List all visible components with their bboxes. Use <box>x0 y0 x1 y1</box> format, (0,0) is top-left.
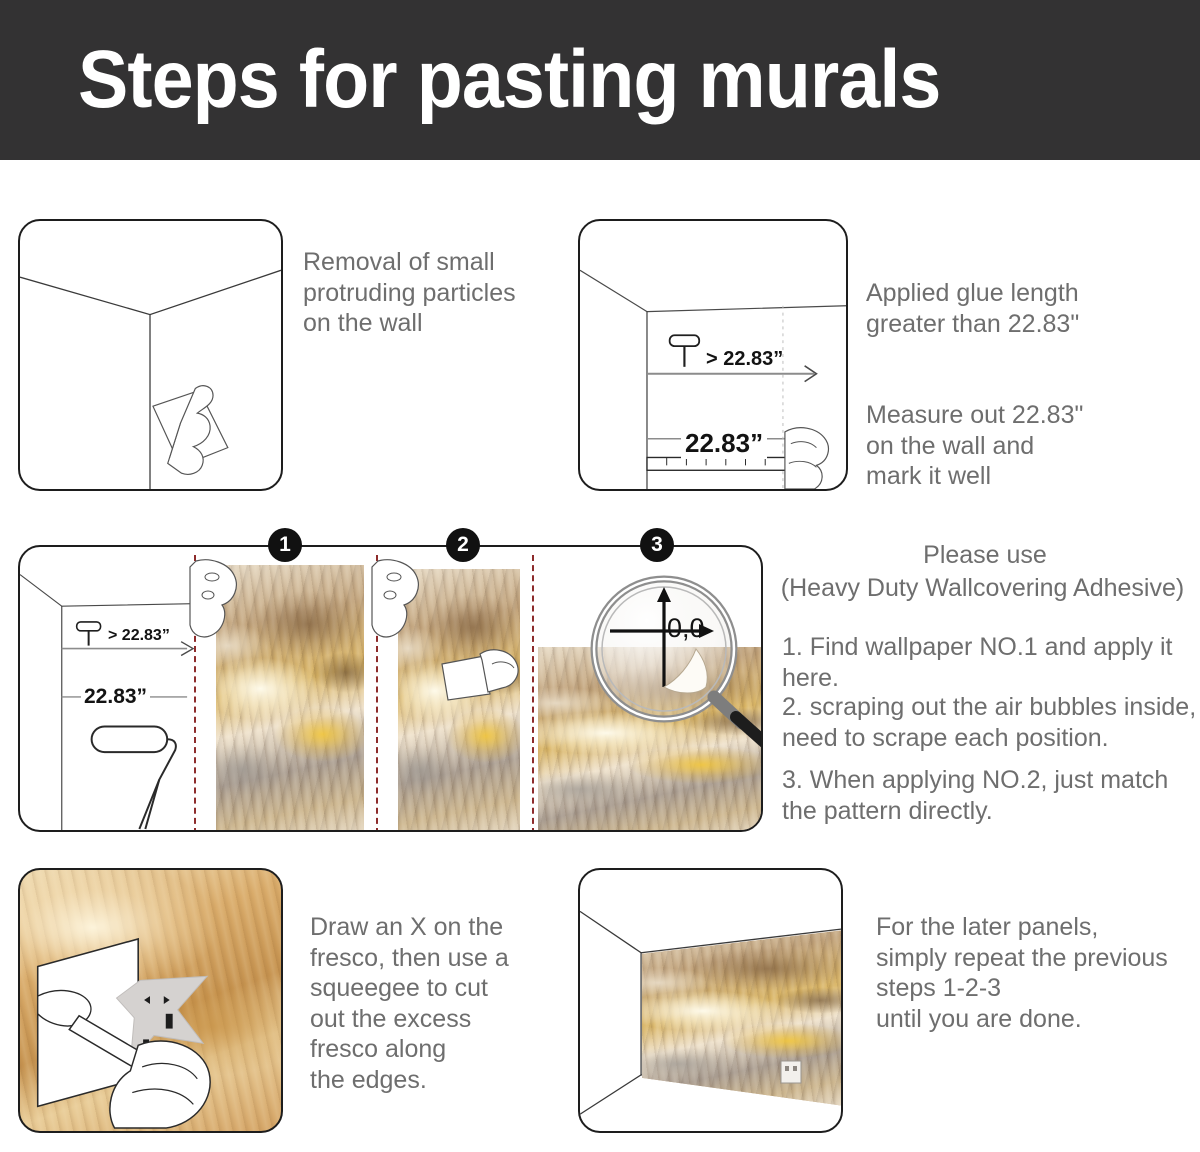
page-title: Steps for pasting murals <box>78 39 940 121</box>
instructions-heading-line2: (Heavy Duty Wallcovering Adhesive) <box>770 573 1195 604</box>
glue-length-label-wide: > 22.83” <box>108 627 170 645</box>
origin-label: 0,0 <box>667 613 705 644</box>
squeegee-hand-icon <box>440 642 532 712</box>
finished-mural-wall <box>642 930 843 1106</box>
guide-line-3 <box>532 555 534 832</box>
wall-outlet-icon <box>780 1060 802 1084</box>
panel-clean-wall <box>18 219 283 491</box>
step-badge-1: 1 <box>268 528 302 562</box>
panel-hang-panels: > 22.83” 22.83” <box>18 545 763 832</box>
panel-apply-glue: > 22.83” 22.83” <box>578 219 848 491</box>
page-header: Steps for pasting murals <box>0 0 1200 160</box>
caption-glue-length: Applied glue length greater than 22.83" <box>866 278 1166 339</box>
instruction-item-1: 1. Find wallpaper NO.1 and apply it here… <box>782 632 1197 693</box>
instructions-heading-line1: Please use <box>790 540 1180 571</box>
caption-cut-outlet: Draw an X on the fresco, then use a sque… <box>310 912 585 1095</box>
hand-holding-corner-icon-2 <box>370 557 430 647</box>
caption-clean-wall: Removal of small protruding particles on… <box>303 247 563 339</box>
measure-length-label-wide: 22.83” <box>81 685 150 709</box>
step-badge-2: 2 <box>446 528 480 562</box>
caption-measure-mark: Measure out 22.83" on the wall and mark … <box>866 400 1176 492</box>
measure-length-label: 22.83” <box>681 428 767 459</box>
magnifier-icon <box>586 569 763 759</box>
caption-repeat-steps: For the later panels, simply repeat the … <box>876 912 1200 1034</box>
panel-repeat-steps <box>578 868 843 1133</box>
scraper-hand-icon <box>20 221 281 489</box>
glue-length-label: > 22.83” <box>706 348 783 371</box>
step-badge-3: 3 <box>640 528 674 562</box>
panel-cut-outlet <box>18 868 283 1133</box>
hand-cutting-x-icon <box>20 870 281 1131</box>
hand-holding-corner-icon-1 <box>188 557 248 647</box>
instruction-item-3: 3. When applying NO.2, just match the pa… <box>782 765 1197 826</box>
instruction-item-2: 2. scraping out the air bubbles inside, … <box>782 692 1197 753</box>
